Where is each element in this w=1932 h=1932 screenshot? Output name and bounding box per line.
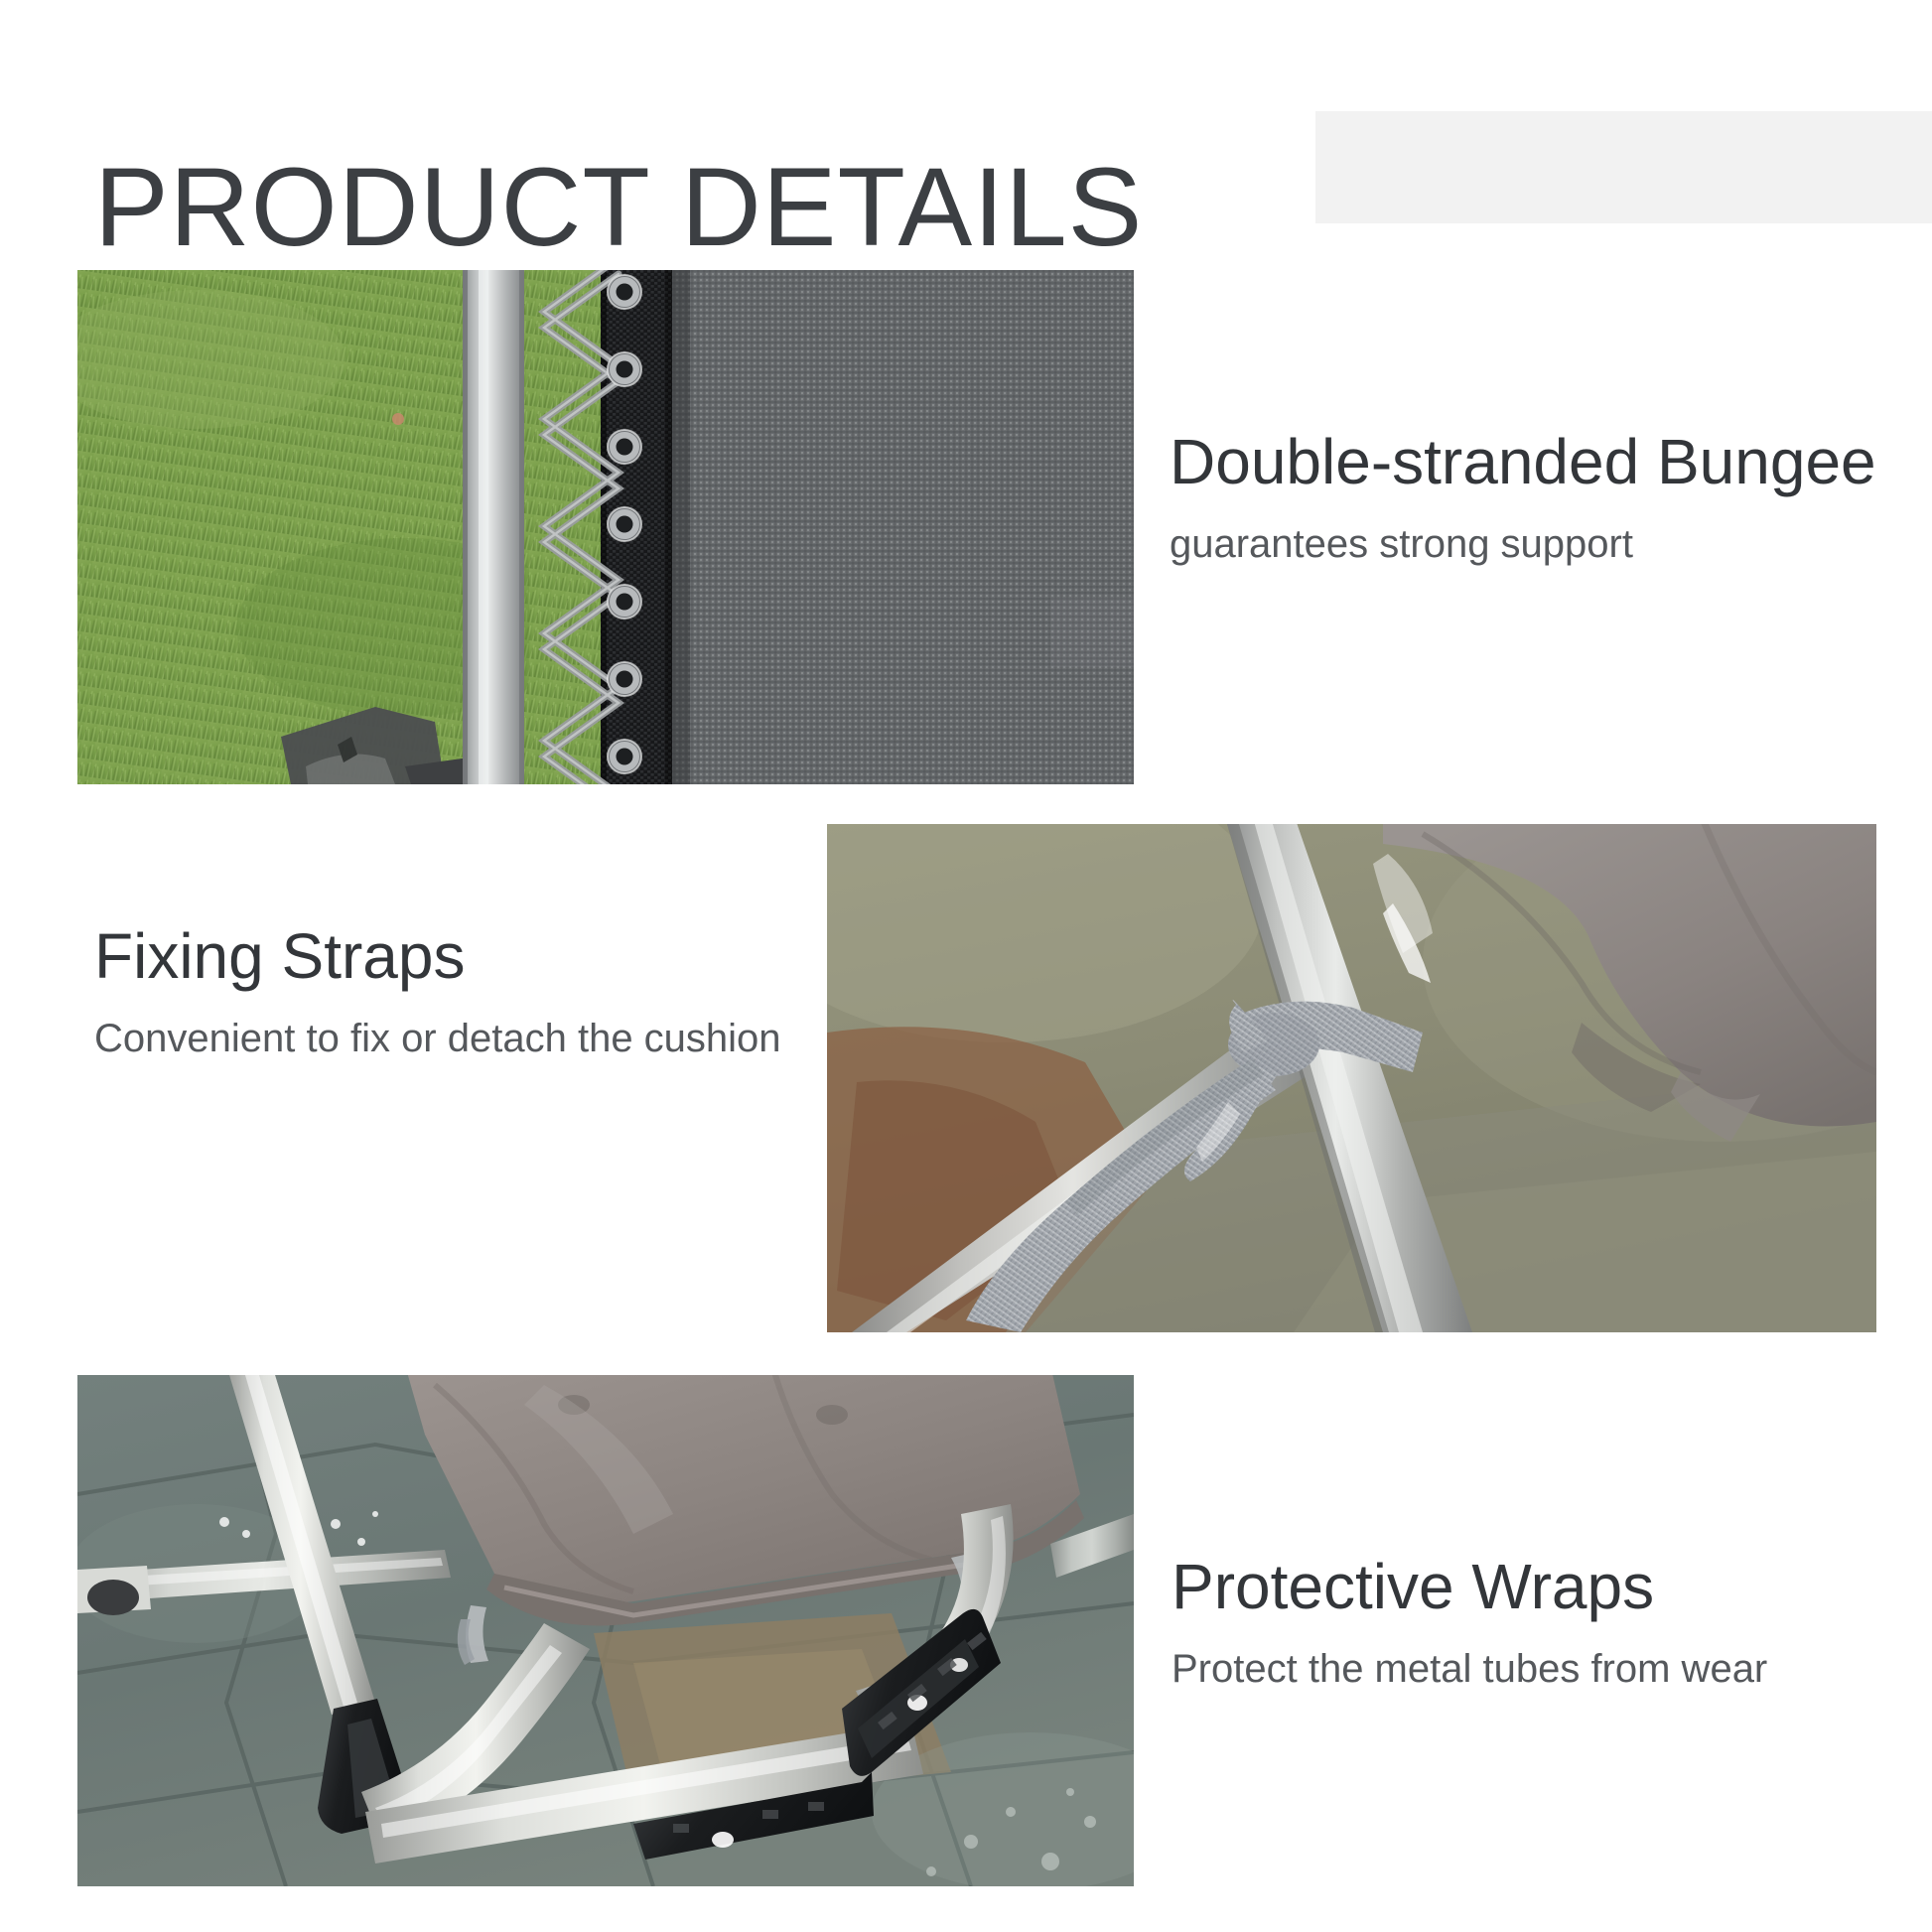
bungee-illustration: [77, 270, 1134, 784]
feature-subtitle-bungee: guarantees strong support: [1170, 522, 1876, 566]
feature-image-bungee: [77, 270, 1134, 784]
infographic-page: PRODUCT DETAILS: [0, 0, 1932, 1932]
fixing-straps-illustration: [827, 824, 1876, 1332]
feature-image-straps: [827, 824, 1876, 1332]
page-title: PRODUCT DETAILS: [94, 152, 1143, 263]
feature-heading-straps: Fixing Straps: [94, 923, 781, 991]
protective-wraps-illustration: [77, 1375, 1134, 1886]
feature-heading-wraps: Protective Wraps: [1172, 1554, 1767, 1621]
header-accent-band: [1315, 111, 1932, 223]
feature-text-straps: Fixing Straps Convenient to fix or detac…: [94, 923, 781, 1060]
feature-subtitle-wraps: Protect the metal tubes from wear: [1172, 1647, 1767, 1691]
feature-image-wraps: [77, 1375, 1134, 1886]
feature-heading-bungee: Double-stranded Bungee: [1170, 429, 1876, 496]
feature-subtitle-straps: Convenient to fix or detach the cushion: [94, 1017, 781, 1060]
feature-text-wraps: Protective Wraps Protect the metal tubes…: [1172, 1554, 1767, 1691]
feature-text-bungee: Double-stranded Bungee guarantees strong…: [1170, 429, 1876, 566]
